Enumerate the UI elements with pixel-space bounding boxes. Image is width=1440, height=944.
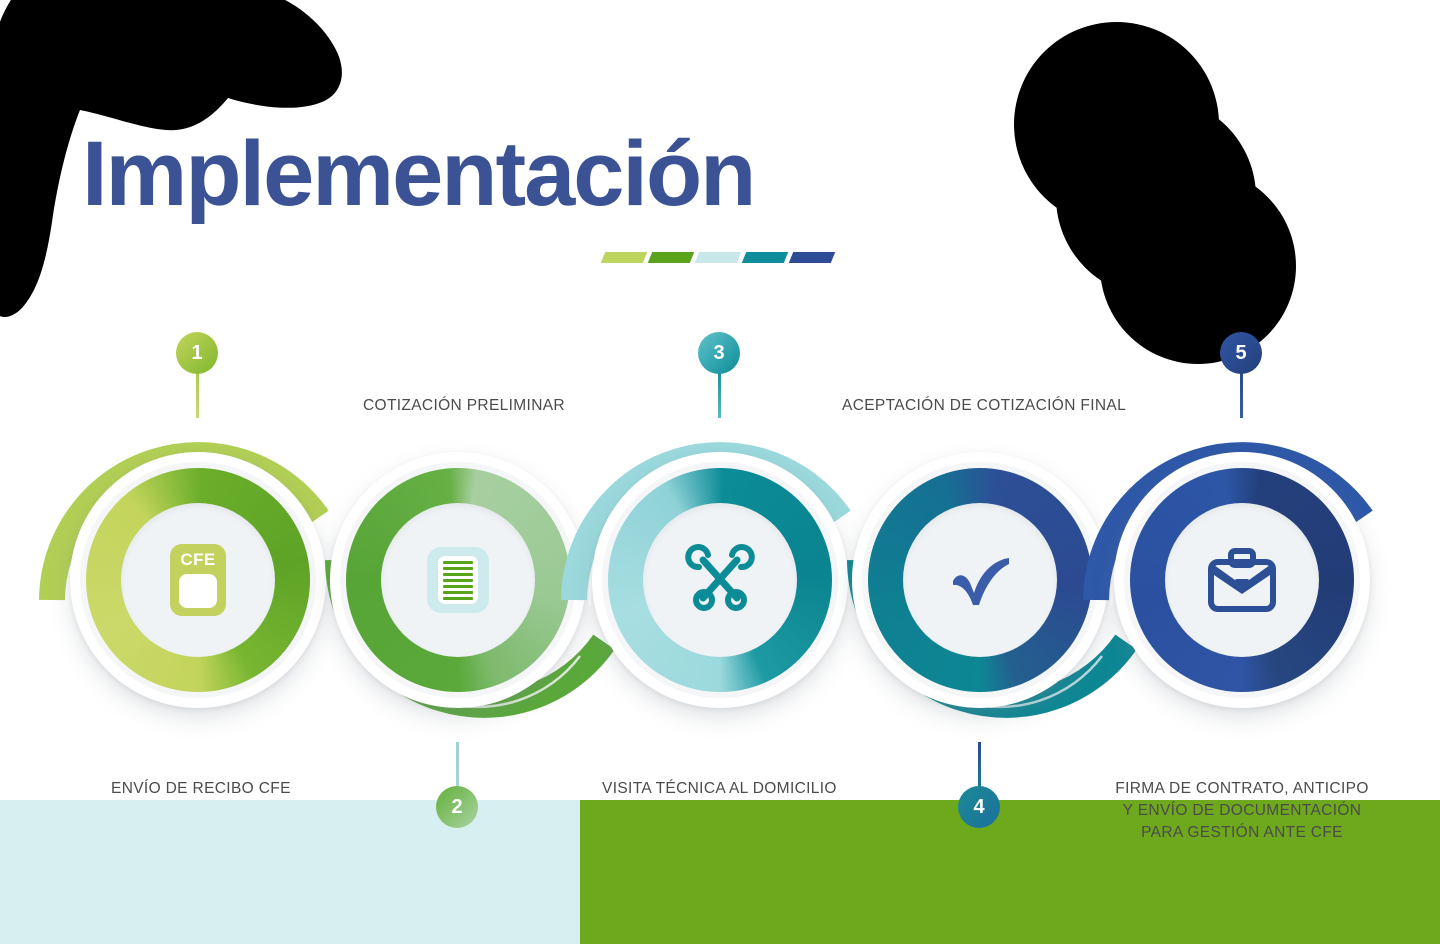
dash-light-green bbox=[601, 252, 647, 263]
step-2-stem bbox=[456, 742, 459, 790]
process-steps: CFE 1 ENVÍO DE RECIBO CFE bbox=[0, 330, 1440, 770]
step-1-icon-well: CFE bbox=[121, 503, 275, 657]
step-3-label: VISITA TÉCNICA AL DOMICILIO bbox=[602, 778, 837, 800]
step-1-number: 1 bbox=[191, 342, 202, 365]
step-1-badge: 1 bbox=[176, 332, 218, 374]
infographic-canvas: Implementación CFE bbox=[0, 0, 1440, 944]
dash-dark-blue bbox=[789, 252, 835, 263]
footer-bar-cyan bbox=[0, 800, 580, 944]
dash-teal bbox=[742, 252, 788, 263]
briefcase-icon bbox=[1205, 545, 1279, 615]
step-5-icon-well bbox=[1165, 503, 1319, 657]
step-5-stem bbox=[1240, 370, 1243, 418]
document-line bbox=[443, 561, 473, 564]
step-5-badge: 5 bbox=[1220, 332, 1262, 374]
step-3-stem bbox=[718, 370, 721, 418]
cfe-label: CFE bbox=[180, 551, 215, 568]
step-4-label: ACEPTACIÓN DE COTIZACIÓN FINAL bbox=[842, 395, 1126, 417]
step-1-stem bbox=[196, 370, 199, 418]
cfe-window bbox=[179, 574, 217, 608]
step-3-number: 3 bbox=[713, 342, 724, 365]
document-line bbox=[443, 597, 473, 600]
document-line bbox=[443, 567, 473, 570]
step-4-number: 4 bbox=[973, 796, 984, 819]
dash-green bbox=[648, 252, 694, 263]
document-line bbox=[443, 585, 473, 588]
step-3-badge: 3 bbox=[698, 332, 740, 374]
document-line bbox=[443, 591, 473, 594]
cfe-card-icon: CFE bbox=[170, 544, 226, 616]
step-2-label: COTIZACIÓN PRELIMINAR bbox=[363, 395, 565, 417]
document-icon bbox=[427, 547, 489, 613]
checkmark-icon bbox=[941, 541, 1019, 619]
step-1-label: ENVÍO DE RECIBO CFE bbox=[111, 778, 291, 800]
step-2-badge: 2 bbox=[436, 786, 478, 828]
document-line bbox=[443, 579, 473, 582]
step-4-icon-well bbox=[903, 503, 1057, 657]
crossed-wrenches-icon bbox=[683, 543, 757, 617]
step-2-icon-well bbox=[381, 503, 535, 657]
step-3-icon-well bbox=[643, 503, 797, 657]
dash-pale-cyan bbox=[695, 252, 741, 263]
step-4-stem bbox=[978, 742, 981, 790]
step-4-badge: 4 bbox=[958, 786, 1000, 828]
step-5-number: 5 bbox=[1235, 342, 1246, 365]
step-5-label: FIRMA DE CONTRATO, ANTICIPO Y ENVÍO DE D… bbox=[1092, 778, 1392, 844]
page-title: Implementación bbox=[82, 128, 754, 220]
step-2-number: 2 bbox=[451, 796, 462, 819]
document-line bbox=[443, 573, 473, 576]
step-5[interactable]: 5 FIRMA DE CONTRATO, ANTICIPO Y ENVÍO DE… bbox=[1072, 410, 1412, 750]
accent-dash-group bbox=[603, 252, 833, 263]
document-page bbox=[438, 556, 478, 604]
